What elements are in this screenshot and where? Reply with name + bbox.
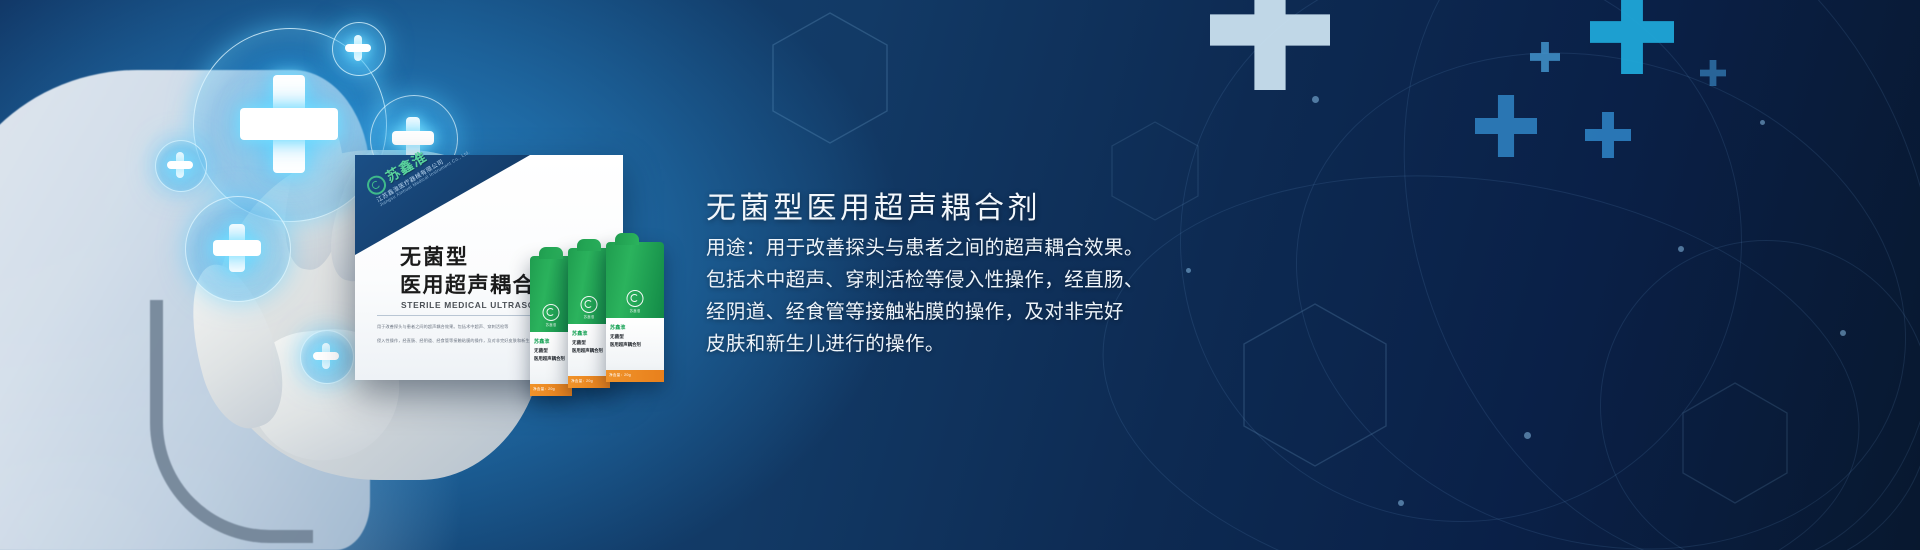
product-sachet: 苏鑫淮 苏鑫淮 无菌型 医用超声耦合剂 净含量：20g xyxy=(568,248,610,388)
sachet-logo-mark xyxy=(543,304,560,321)
sachet-brand-tiny: 苏鑫淮 xyxy=(606,308,664,313)
medical-cross-icon xyxy=(1700,60,1726,86)
sachet-brand: 苏鑫淮 xyxy=(534,338,550,345)
description-line: 包括术中超声、穿刺活检等侵入性操作，经直肠、 xyxy=(706,264,1176,296)
sachet-name-line1: 无菌型 xyxy=(572,340,586,346)
page-title: 无菌型医用超声耦合剂 xyxy=(706,183,1041,227)
sachet-net-weight: 净含量：20g xyxy=(533,387,555,392)
hexagon-icon xyxy=(1240,300,1390,470)
sachet-weight-bar: 净含量：20g xyxy=(530,384,572,396)
hexagon-icon xyxy=(770,10,890,146)
medical-cross-icon xyxy=(1475,95,1537,157)
sachet-brand-tiny: 苏鑫淮 xyxy=(530,322,572,327)
medical-cross-icon xyxy=(1585,112,1631,158)
medical-cross-icon xyxy=(1590,0,1674,74)
product-banner: 苏鑫淮 江苏鑫淮医疗器械有限公司 Jiangsu Xinhuai Medical… xyxy=(0,0,1920,550)
medical-cross-icon xyxy=(213,224,261,272)
medical-cross-icon xyxy=(167,152,193,178)
molecule-node-icon xyxy=(1760,120,1765,125)
sachet-name-line2: 医用超声耦合剂 xyxy=(534,356,565,362)
sachet-label: 苏鑫淮 无菌型 医用超声耦合剂 净含量：20g xyxy=(530,332,572,396)
molecule-orbit-ring xyxy=(1074,129,1887,550)
hexagon-icon xyxy=(1680,380,1790,506)
sachet-name-line1: 无菌型 xyxy=(610,334,624,340)
product-sachet: 苏鑫淮 苏鑫淮 无菌型 医用超声耦合剂 净含量：20g xyxy=(530,256,572,396)
sachet-logo-mark xyxy=(627,290,644,307)
molecule-orbit-ring xyxy=(1600,240,1920,550)
hexagon-icon xyxy=(1110,120,1200,222)
sachet-net-weight: 净含量：20g xyxy=(571,379,593,384)
molecule-orbit-ring xyxy=(1180,0,1742,522)
sachet-weight-bar: 净含量：20g xyxy=(568,376,610,388)
sachet-name-line2: 医用超声耦合剂 xyxy=(572,348,603,354)
medical-cross-icon xyxy=(313,343,339,369)
description-line: 经阴道、经食管等接触粘膜的操作，及对非完好 xyxy=(706,296,1176,328)
sachet-net-weight: 净含量：20g xyxy=(609,373,631,378)
sachet-brand: 苏鑫淮 xyxy=(610,324,626,331)
sachet-name-line1: 无菌型 xyxy=(534,348,548,354)
molecule-node-icon xyxy=(1186,268,1191,273)
molecule-node-icon xyxy=(1678,246,1684,252)
medical-cross-icon xyxy=(240,75,338,173)
molecule-orbit-ring xyxy=(1231,0,1920,550)
medical-cross-icon xyxy=(1530,42,1560,72)
description-line: 皮肤和新生儿进行的操作。 xyxy=(706,328,1176,360)
molecule-orbit-ring xyxy=(1307,0,1920,550)
sachet-brand: 苏鑫淮 xyxy=(572,330,588,337)
molecule-node-icon xyxy=(1398,500,1404,506)
molecule-node-icon xyxy=(1312,96,1319,103)
product-description: 用途：用于改善探头与患者之间的超声耦合效果。 包括术中超声、穿刺活检等侵入性操作… xyxy=(706,232,1176,360)
sachet-logo-mark xyxy=(581,296,598,313)
description-line: 用途：用于改善探头与患者之间的超声耦合效果。 xyxy=(706,232,1176,264)
product-sachet: 苏鑫淮 苏鑫淮 无菌型 医用超声耦合剂 净含量：20g xyxy=(606,242,664,382)
molecule-node-icon xyxy=(1840,330,1846,336)
sachet-name-line2: 医用超声耦合剂 xyxy=(610,342,641,348)
molecule-node-icon xyxy=(1524,432,1531,439)
sachet-label: 苏鑫淮 无菌型 医用超声耦合剂 净含量：20g xyxy=(606,318,664,382)
sachet-weight-bar: 净含量：20g xyxy=(606,370,664,382)
medical-cross-icon xyxy=(345,35,371,61)
box-product-name-line1: 无菌型 xyxy=(400,241,469,271)
medical-cross-icon xyxy=(1210,0,1330,90)
sachet-brand-tiny: 苏鑫淮 xyxy=(568,314,610,319)
sachet-label: 苏鑫淮 无菌型 医用超声耦合剂 净含量：20g xyxy=(568,324,610,388)
